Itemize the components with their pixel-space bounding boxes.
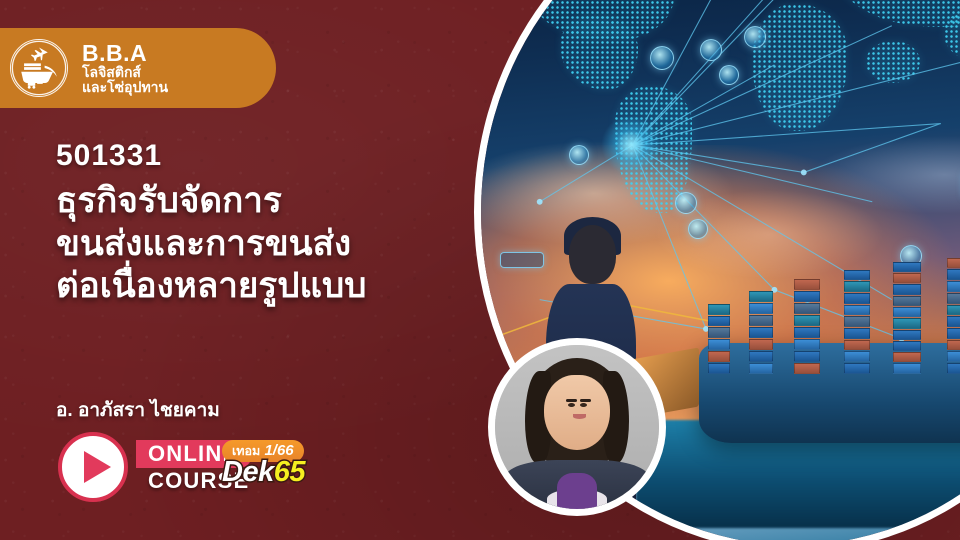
course-code: 501331 <box>56 139 162 173</box>
bba-acronym: B.B.A <box>82 42 168 65</box>
portrait-shirt <box>557 473 596 509</box>
play-icon[interactable] <box>58 432 128 502</box>
dek-year: 65 <box>274 456 305 488</box>
pin-node-icon <box>569 145 589 165</box>
dek65-badge: เทอม 1/66 Dek65 <box>222 440 334 487</box>
dek-text: Dek <box>222 456 274 488</box>
instructor-name: อ. อาภัสรา ไชยคาม <box>56 395 220 425</box>
bba-program-badge: B.B.A โลจิสติกส์ และโซ่อุปทาน <box>0 28 276 108</box>
course-title-line-2: ขนส่งและการขนส่ง <box>56 223 476 266</box>
container-stack <box>844 270 870 374</box>
container-stack <box>893 262 921 374</box>
portrait-eye <box>580 403 587 407</box>
container-stack <box>708 304 730 374</box>
course-title-line-3: ต่อเนื่องหลายรูปแบบ <box>56 265 476 308</box>
network-hub-node <box>601 115 661 175</box>
course-title-line-1: ธุรกิจรับจัดการ <box>56 180 476 223</box>
course-title: ธุรกิจรับจัดการ ขนส่งและการขนส่ง ต่อเนื่… <box>56 180 476 308</box>
portrait-brow <box>566 399 577 402</box>
bba-program-line2: และโซ่อุปทาน <box>82 80 168 94</box>
globe-node-icon <box>700 39 722 61</box>
portrait-eye <box>568 403 575 407</box>
bba-program-line1: โลจิสติกส์ <box>82 65 168 79</box>
worker-head <box>569 225 617 284</box>
container-ship <box>681 119 960 505</box>
portrait-face <box>544 375 610 450</box>
portrait-mouth <box>573 414 586 419</box>
container-stack <box>749 290 773 374</box>
instructor-portrait <box>488 338 666 516</box>
portrait-brow <box>580 399 591 402</box>
container-stack <box>947 258 960 374</box>
course-banner: sbu <box>0 0 960 540</box>
ship-node-icon <box>744 26 766 48</box>
container-stack <box>794 278 820 374</box>
truck-node-icon <box>650 46 674 70</box>
bba-text-block: B.B.A โลจิสติกส์ และโซ่อุปทาน <box>82 42 168 94</box>
plane-ship-truck-icon <box>10 39 68 97</box>
dek-word: Dek65 <box>222 458 334 487</box>
